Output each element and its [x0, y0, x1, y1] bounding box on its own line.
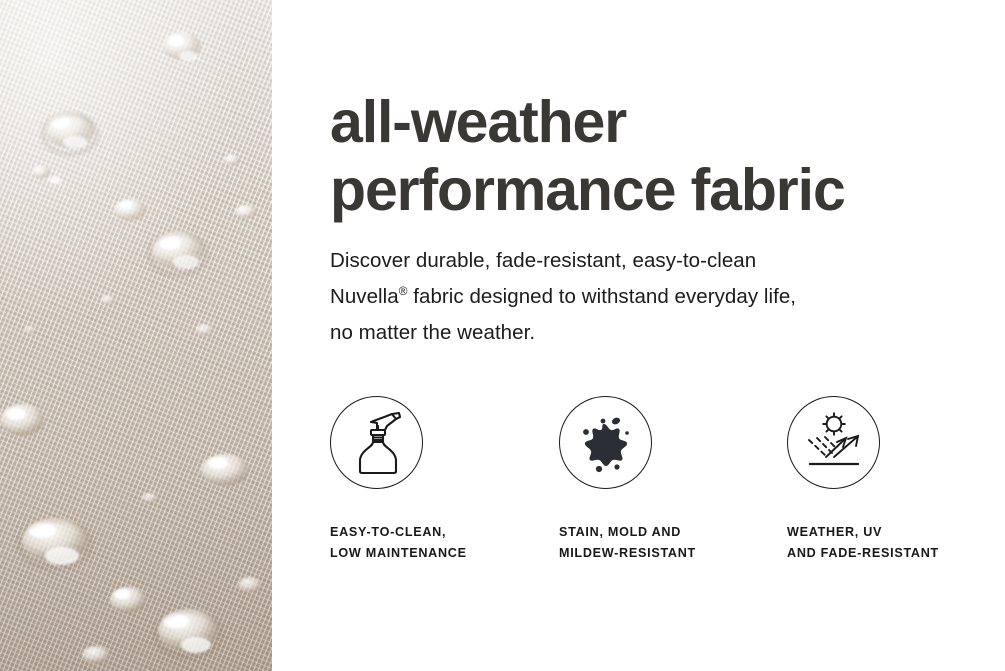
body-line-3: no matter the weather.	[330, 315, 796, 351]
feature-caption: EASY-TO-CLEAN, LOW MAINTENANCE	[330, 522, 559, 564]
feature-easy-to-clean: EASY-TO-CLEAN, LOW MAINTENANCE	[330, 396, 559, 564]
body-copy: Discover durable, fade-resistant, easy-t…	[330, 243, 796, 351]
headline-line-1: all-weather	[330, 88, 845, 156]
caption-line-2: LOW MAINTENANCE	[330, 543, 559, 564]
caption-line-2: MILDEW-RESISTANT	[559, 543, 787, 564]
content-panel: all-weather performance fabric Discover …	[272, 0, 1005, 671]
headline-line-2: performance fabric	[330, 156, 845, 224]
caption-line-1: STAIN, MOLD AND	[559, 522, 787, 543]
sun-uv-reflect-icon	[787, 396, 880, 489]
feature-stain-resistant: STAIN, MOLD AND MILDEW-RESISTANT	[559, 396, 787, 564]
body-line-1: Discover durable, fade-resistant, easy-t…	[330, 243, 796, 279]
fabric-photo	[0, 0, 272, 671]
stain-splat-icon	[559, 396, 652, 489]
all-weather-fabric-banner: all-weather performance fabric Discover …	[0, 0, 1005, 671]
caption-line-2: AND FADE-RESISTANT	[787, 543, 1005, 564]
caption-line-1: WEATHER, UV	[787, 522, 1005, 543]
water-droplets-overlay	[0, 0, 272, 671]
caption-line-1: EASY-TO-CLEAN,	[330, 522, 559, 543]
feature-caption: STAIN, MOLD AND MILDEW-RESISTANT	[559, 522, 787, 564]
feature-list: EASY-TO-CLEAN, LOW MAINTENANCE	[330, 396, 990, 564]
registered-trademark-mark: ®	[399, 284, 408, 298]
body-line-2-rest: fabric designed to withstand everyday li…	[413, 285, 796, 308]
body-line-2: Nuvella® fabric designed to withstand ev…	[330, 279, 796, 315]
spray-bottle-icon	[330, 396, 423, 489]
page-title: all-weather performance fabric	[330, 88, 845, 224]
feature-caption: WEATHER, UV AND FADE-RESISTANT	[787, 522, 1005, 564]
feature-weather-uv-resistant: WEATHER, UV AND FADE-RESISTANT	[787, 396, 1005, 564]
brand-name: Nuvella	[330, 285, 399, 308]
